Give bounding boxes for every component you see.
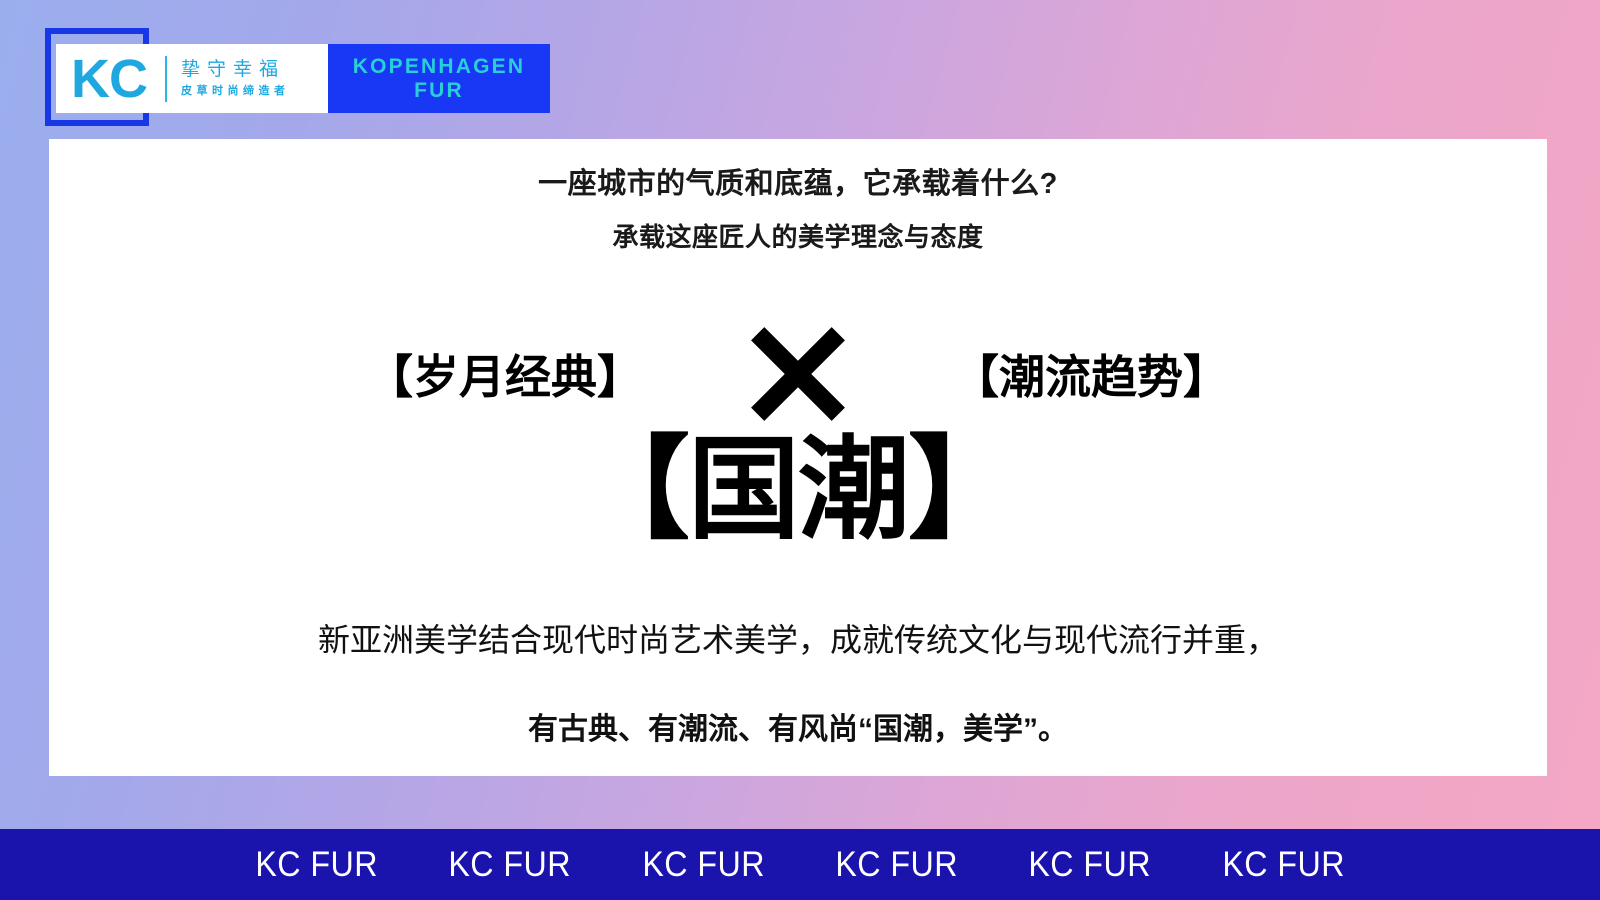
- headline-primary: 一座城市的气质和底蕴，它承载着什么?: [49, 160, 1547, 202]
- hero-title: 【国潮】: [49, 427, 1547, 552]
- footer-brand-word: KC FUR: [449, 845, 572, 885]
- footer-brand-bar: KC FUR KC FUR KC FUR KC FUR KC FUR KC FU…: [0, 829, 1600, 900]
- logo-chinese-tagline: 挚守幸福 皮草时尚缔造者: [181, 59, 290, 97]
- brand-logo-lockup: KC 挚守幸福 皮草时尚缔造者 KOPENHAGEN FUR: [45, 28, 550, 128]
- logo-white-panel: KC 挚守幸福 皮草时尚缔造者: [56, 44, 328, 113]
- multiply-cross-icon: [745, 323, 851, 425]
- logo-divider: [165, 56, 167, 102]
- footer-brand-word: KC FUR: [1222, 845, 1345, 885]
- concept-right-label: 【潮流趋势】: [891, 341, 1291, 407]
- footer-brand-word: KC FUR: [255, 845, 378, 885]
- content-card: 一座城市的气质和底蕴，它承载着什么? 承载这座匠人的美学理念与态度 【岁月经典】…: [49, 139, 1547, 776]
- footer-brand-word: KC FUR: [642, 845, 765, 885]
- footer-brand-word: KC FUR: [835, 845, 958, 885]
- brand-name-line-2: FUR: [414, 79, 464, 103]
- brand-name-line-1: KOPENHAGEN: [353, 55, 526, 79]
- logo-tagline-sub: 皮草时尚缔造者: [181, 85, 290, 98]
- concept-pair-row: 【岁月经典】 【潮流趋势】: [49, 319, 1547, 429]
- concept-left-label: 【岁月经典】: [305, 341, 705, 407]
- footer-brand-word: KC FUR: [1029, 845, 1152, 885]
- headline-secondary: 承载这座匠人的美学理念与态度: [49, 217, 1547, 254]
- body-paragraph-1: 新亚洲美学结合现代时尚艺术美学，成就传统文化与现代流行并重，: [49, 615, 1547, 661]
- body-paragraph-2: 有古典、有潮流、有风尚“国潮，美学”。: [49, 704, 1547, 748]
- logo-tagline-main: 挚守幸福: [181, 59, 290, 81]
- logo-kc-mark: KC: [71, 52, 147, 106]
- slide-canvas: KC 挚守幸福 皮草时尚缔造者 KOPENHAGEN FUR 一座城市的气质和底…: [0, 0, 1600, 900]
- logo-brand-panel: KOPENHAGEN FUR: [328, 44, 550, 113]
